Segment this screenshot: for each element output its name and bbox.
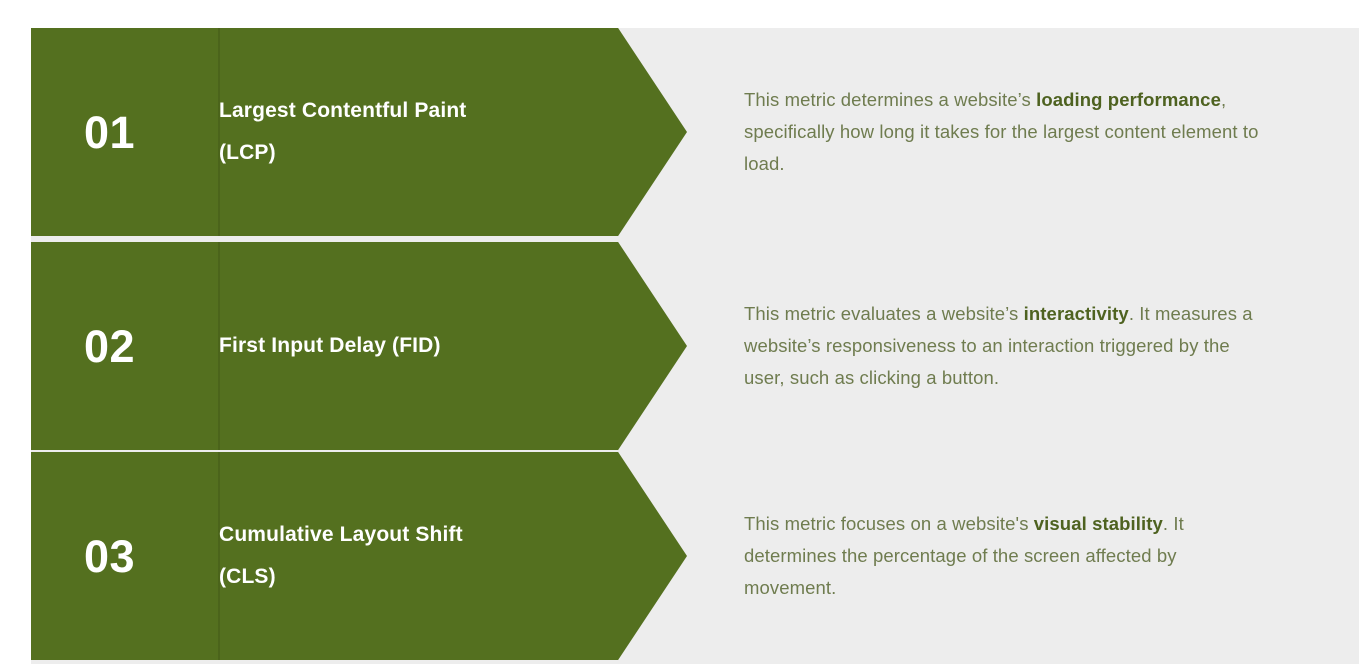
- step-number: 01: [31, 28, 188, 236]
- description-strong-1: interactivity: [1024, 303, 1129, 324]
- description-part-1: This metric focuses on a website's: [744, 513, 1034, 534]
- metric-title-line-1: Cumulative Layout Shift: [219, 523, 463, 546]
- metric-description-text: This metric focuses on a website's visua…: [744, 508, 1269, 604]
- metric-title-text: Cumulative Layout Shift(CLS): [219, 514, 463, 598]
- description-part-1: This metric evaluates a website’s: [744, 303, 1024, 324]
- metric-title: Cumulative Layout Shift(CLS): [219, 452, 589, 660]
- metric-title-text: First Input Delay (FID): [219, 325, 441, 367]
- step-number: 02: [31, 242, 188, 450]
- metric-row: 02 First Input Delay (FID) This metric e…: [0, 242, 1359, 450]
- metric-description: This metric focuses on a website's visua…: [744, 452, 1269, 660]
- metric-row: 03 Cumulative Layout Shift(CLS) This met…: [0, 452, 1359, 660]
- metric-title: Largest Contentful Paint(LCP): [219, 28, 589, 236]
- metric-row: 01 Largest Contentful Paint(LCP) This me…: [0, 28, 1359, 236]
- metric-description: This metric evaluates a website’s intera…: [744, 242, 1269, 450]
- metric-description-text: This metric determines a website’s loadi…: [744, 84, 1269, 180]
- metric-description: This metric determines a website’s loadi…: [744, 28, 1269, 236]
- infographic-canvas: 01 Largest Contentful Paint(LCP) This me…: [0, 0, 1359, 664]
- metric-title-line-2: (CLS): [219, 565, 276, 588]
- metric-description-text: This metric evaluates a website’s intera…: [744, 298, 1269, 394]
- description-strong-1: visual stability: [1034, 513, 1163, 534]
- metric-title-text: Largest Contentful Paint(LCP): [219, 90, 466, 174]
- description-strong-1: loading performance: [1036, 89, 1221, 110]
- metric-title: First Input Delay (FID): [219, 242, 589, 450]
- step-number: 03: [31, 452, 188, 660]
- description-part-1: This metric determines a website’s: [744, 89, 1036, 110]
- metric-title-line-1: Largest Contentful Paint: [219, 99, 466, 122]
- metric-title-line-2: (LCP): [219, 141, 276, 164]
- metric-title-line-1: First Input Delay (FID): [219, 334, 441, 357]
